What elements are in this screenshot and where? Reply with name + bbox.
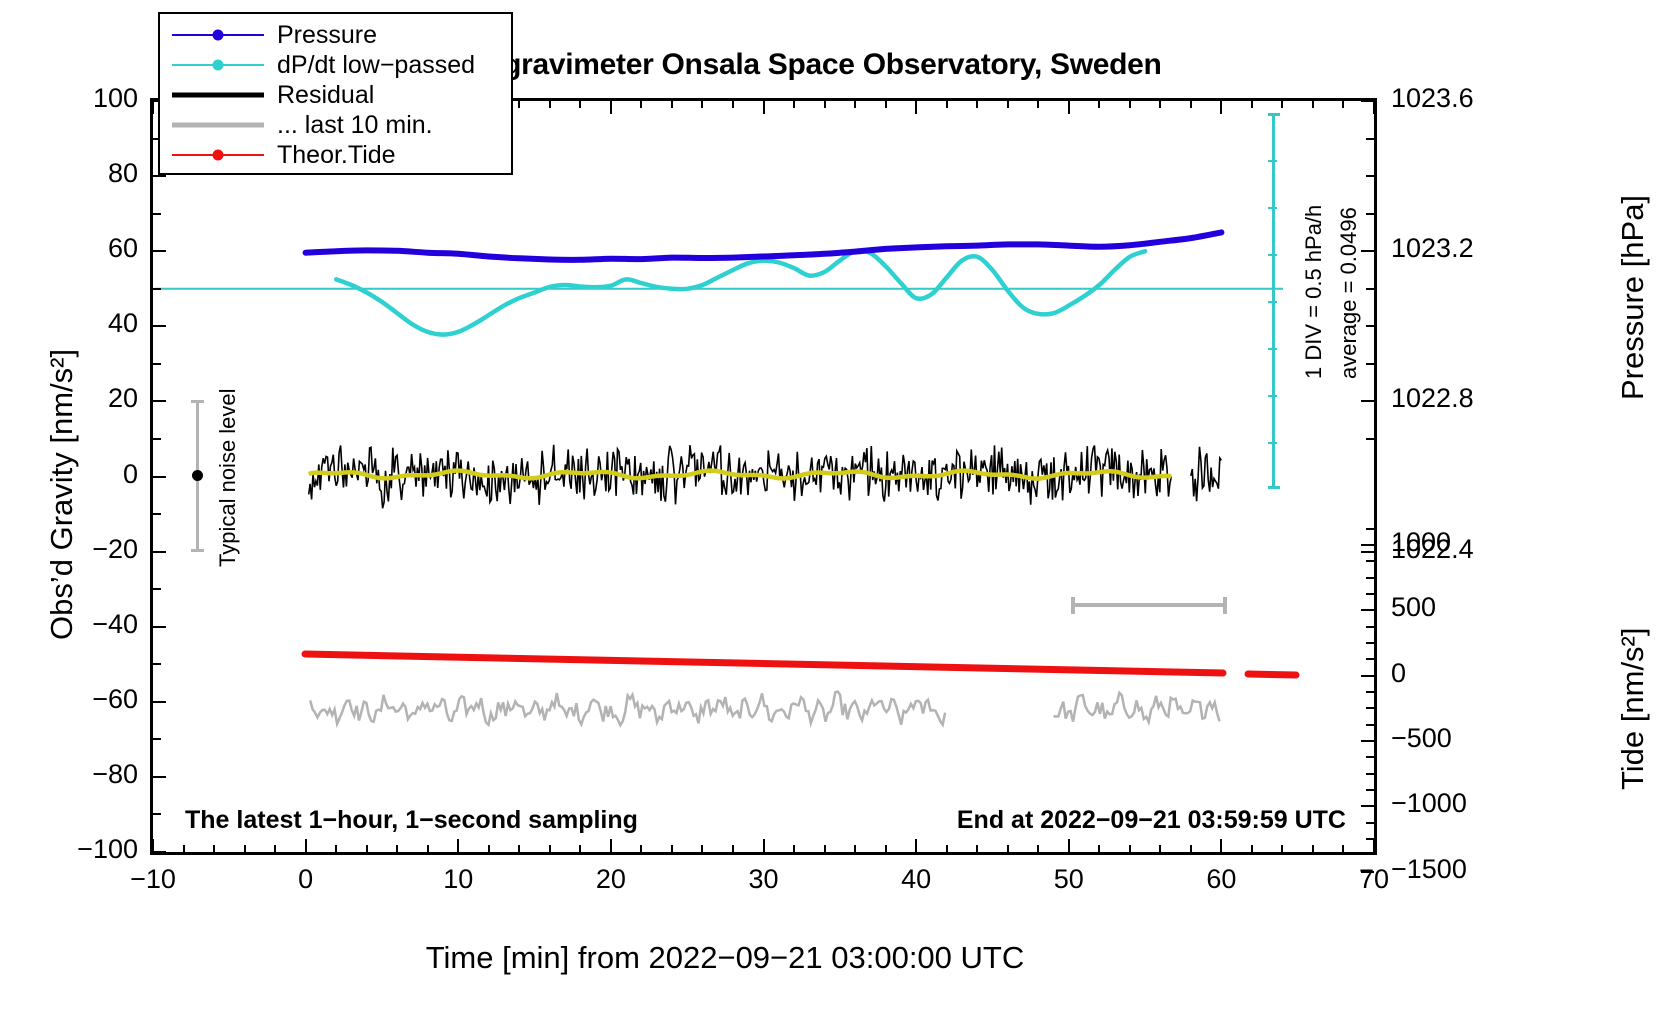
right-tide-tick-label: −1000 (1391, 788, 1561, 819)
bottom-tick-major (1220, 839, 1222, 852)
bottom-tick-minor (640, 845, 642, 852)
bottom-tick-minor (854, 845, 856, 852)
right-tide-tick-minor (1366, 691, 1374, 693)
right-tide-tick-label: −500 (1391, 723, 1561, 754)
noise-cap-top (191, 400, 204, 403)
left-tick-major (153, 851, 166, 853)
legend-item-1[interactable]: dP/dt low−passed (160, 50, 511, 80)
top-tick (701, 101, 703, 108)
bottom-tick-label: 60 (1171, 864, 1271, 895)
right-pressure-tick-label: 1022.8 (1391, 383, 1541, 414)
right-tide-tick-label: −1500 (1391, 854, 1561, 885)
right-pressure-tick-minor (1366, 288, 1374, 290)
noise-cap-bottom (191, 549, 204, 552)
legend-marker-dot (213, 60, 224, 71)
bottom-tick-major (152, 839, 154, 852)
right-tide-tick-major (1361, 740, 1374, 742)
top-tick (763, 101, 765, 114)
right-pressure-tick-label: 1023.2 (1391, 233, 1541, 264)
left-axis-title: Obs’d Gravity [nm/s²] (44, 349, 80, 640)
plot-area: Typical noise level 1 DIV = 0.5 hPa/h av… (150, 98, 1377, 855)
legend-swatch (172, 115, 264, 135)
left-tick-minor (153, 738, 161, 740)
legend-item-2[interactable]: Residual (160, 80, 511, 110)
left-tick-major (153, 776, 166, 778)
span-bar-line (1071, 603, 1227, 607)
left-tick-minor (153, 213, 161, 215)
left-tick-label: 80 (52, 158, 138, 189)
left-tick-major (153, 250, 166, 252)
series-dpdt-lowpassed (336, 251, 1145, 335)
top-tick (1159, 101, 1161, 108)
typical-noise-level-label: Typical noise level (215, 388, 241, 567)
top-tick (1007, 101, 1009, 108)
top-tick (549, 101, 551, 108)
left-tick-minor (153, 813, 161, 815)
bottom-tick-minor (549, 845, 551, 852)
top-tick (946, 101, 948, 108)
right-pressure-tick-minor (1366, 138, 1374, 140)
bottom-tick-minor (1251, 845, 1253, 852)
last-10-min-span-bar (1071, 597, 1227, 614)
bottom-tick-minor (1098, 845, 1100, 852)
dpdt-div-label: 1 DIV = 0.5 hPa/h (1301, 205, 1327, 379)
top-tick (1190, 101, 1192, 108)
right-tide-tick-minor (1366, 789, 1374, 791)
legend-line (172, 93, 264, 98)
bottom-tick-minor (1007, 845, 1009, 852)
right-pressure-tick-minor (1366, 325, 1374, 327)
bottom-tick-label: −10 (103, 864, 203, 895)
right-pressure-tick-major (1361, 100, 1374, 102)
bottom-tick-label: 10 (408, 864, 508, 895)
right-tide-tick-label: 1000 (1391, 527, 1561, 558)
right-tide-tick-minor (1366, 658, 1374, 660)
bottom-tick-minor (824, 845, 826, 852)
legend-item-4[interactable]: Theor.Tide (160, 140, 511, 170)
bottom-tick-minor (488, 845, 490, 852)
bottom-tick-minor (732, 845, 734, 852)
bottom-tick-minor (1159, 845, 1161, 852)
right-tide-tick-major (1361, 675, 1374, 677)
bottom-tick-minor (579, 845, 581, 852)
bottom-tick-minor (671, 845, 673, 852)
right-tide-tick-minor (1366, 838, 1374, 840)
bottom-tick-minor (427, 845, 429, 852)
legend-label: Theor.Tide (277, 141, 396, 170)
bottom-tick-minor (366, 845, 368, 852)
dpdt-average-label: average = 0.0496 (1336, 207, 1362, 379)
top-tick (1220, 101, 1222, 114)
right-pressure-axis-title: Pressure [hPa] (1615, 195, 1651, 400)
series-last-10-min (310, 692, 1219, 726)
top-tick (732, 101, 734, 108)
scale-tick (1268, 207, 1277, 209)
bottom-tick-minor (946, 845, 948, 852)
bottom-tick-major (915, 839, 917, 852)
right-tide-tick-minor (1366, 773, 1374, 775)
top-tick (640, 101, 642, 108)
bottom-axis-title: Time [min] from 2022−09−21 03:00:00 UTC (0, 940, 1450, 976)
left-tick-major (153, 551, 166, 553)
top-tick (885, 101, 887, 108)
right-tide-tick-label: 500 (1391, 592, 1561, 623)
bottom-tick-minor (518, 845, 520, 852)
legend-swatch (172, 25, 264, 45)
top-tick (793, 101, 795, 108)
top-tick (610, 101, 612, 114)
left-tick-minor (153, 663, 161, 665)
top-tick (671, 101, 673, 108)
dpdt-scale-bar (1268, 113, 1280, 489)
bottom-tick-major (305, 839, 307, 852)
left-tick-major (153, 701, 166, 703)
scale-tick (1268, 301, 1277, 303)
bottom-tick-label: 30 (714, 864, 814, 895)
left-tick-minor (153, 288, 161, 290)
right-pressure-tick-minor (1366, 363, 1374, 365)
right-tide-tick-label: 0 (1391, 658, 1561, 689)
top-tick (915, 101, 917, 114)
left-tick-label: 40 (52, 308, 138, 339)
right-tide-tick-major (1361, 609, 1374, 611)
top-tick (1312, 101, 1314, 108)
series-theor-tide (305, 654, 1296, 675)
bottom-tick-minor (1281, 845, 1283, 852)
right-tide-tick-minor (1366, 822, 1374, 824)
top-tick (1037, 101, 1039, 108)
top-tick (1068, 101, 1070, 114)
left-tick-minor (153, 438, 161, 440)
bottom-tick-minor (1129, 845, 1131, 852)
right-tide-tick-major (1361, 544, 1374, 546)
typical-noise-level-marker (191, 400, 204, 552)
bottom-tick-minor (274, 845, 276, 852)
bottom-tick-minor (1037, 845, 1039, 852)
scale-tick (1268, 395, 1277, 397)
left-tick-minor (153, 363, 161, 365)
bottom-tick-major (763, 839, 765, 852)
legend-label: Residual (277, 81, 374, 110)
legend-item-3[interactable]: ... last 10 min. (160, 110, 511, 140)
footer-right-note: End at 2022−09−21 03:59:59 UTC (957, 806, 1346, 835)
top-tick (976, 101, 978, 108)
left-tick-major (153, 175, 166, 177)
right-pressure-tick-major (1361, 400, 1374, 402)
right-pressure-tick-minor (1366, 213, 1374, 215)
bottom-tick-minor (701, 845, 703, 852)
legend-swatch (172, 85, 264, 105)
left-tick-label: −60 (52, 684, 138, 715)
right-pressure-tick-major (1361, 551, 1374, 553)
legend-label: ... last 10 min. (277, 111, 433, 140)
scale-tick (1268, 254, 1277, 256)
legend-item-0[interactable]: Pressure (160, 20, 511, 50)
legend-swatch (172, 145, 264, 165)
noise-center-dot (192, 470, 203, 481)
left-tick-label: 100 (52, 83, 138, 114)
top-tick (824, 101, 826, 108)
scale-tick (1268, 348, 1277, 350)
right-tide-tick-minor (1366, 707, 1374, 709)
right-tide-tick-minor (1366, 626, 1374, 628)
left-tick-major (153, 476, 166, 478)
right-tide-tick-minor (1366, 756, 1374, 758)
top-tick (1281, 101, 1283, 108)
top-tick (152, 101, 154, 114)
legend-marker-dot (213, 150, 224, 161)
right-tide-tick-minor (1366, 560, 1374, 562)
legend-marker-dot (213, 30, 224, 41)
bottom-tick-major (1068, 839, 1070, 852)
right-tide-tick-minor (1366, 528, 1374, 530)
top-tick (1373, 101, 1375, 114)
bottom-tick-label: 20 (561, 864, 661, 895)
left-tick-major (153, 626, 166, 628)
bottom-tick-major (1373, 839, 1375, 852)
right-pressure-tick-label: 1023.6 (1391, 83, 1541, 114)
left-tick-minor (153, 513, 161, 515)
top-tick (854, 101, 856, 108)
footer-left-note: The latest 1−hour, 1−second sampling (185, 806, 638, 835)
scale-tick (1268, 160, 1277, 162)
right-pressure-tick-major (1361, 250, 1374, 252)
bottom-tick-label: 0 (256, 864, 356, 895)
left-tick-major (153, 325, 166, 327)
right-tide-axis-title: Tide [nm/s²] (1615, 628, 1651, 791)
scale-bar-top-cap (1268, 113, 1280, 116)
span-bar-right-cap (1223, 597, 1227, 614)
bottom-tick-minor (335, 845, 337, 852)
left-tick-label: 60 (52, 233, 138, 264)
right-tide-tick-minor (1366, 577, 1374, 579)
bottom-tick-minor (793, 845, 795, 852)
top-tick (518, 101, 520, 108)
plot-canvas (153, 101, 1374, 852)
right-tide-tick-minor (1366, 724, 1374, 726)
bottom-tick-minor (885, 845, 887, 852)
series-pressure (306, 232, 1222, 259)
left-tick-minor (153, 588, 161, 590)
top-tick (1129, 101, 1131, 108)
bottom-tick-minor (1190, 845, 1192, 852)
bottom-tick-minor (183, 845, 185, 852)
left-tick-label: −80 (52, 759, 138, 790)
left-tick-major (153, 400, 166, 402)
gravimeter-plot-page: SCG_054 gravimeter Onsala Space Observat… (0, 0, 1660, 1020)
legend-label: Pressure (277, 21, 377, 50)
legend-line (172, 123, 264, 128)
bottom-tick-major (610, 839, 612, 852)
bottom-tick-minor (396, 845, 398, 852)
bottom-tick-label: 40 (866, 864, 966, 895)
bottom-tick-minor (213, 845, 215, 852)
bottom-tick-minor (1312, 845, 1314, 852)
legend: PressuredP/dt low−passedResidual... last… (158, 12, 513, 175)
top-tick (1342, 101, 1344, 108)
right-pressure-tick-minor (1366, 438, 1374, 440)
top-tick (1098, 101, 1100, 108)
bottom-tick-minor (1342, 845, 1344, 852)
scale-tick (1268, 442, 1277, 444)
right-tide-tick-major (1361, 805, 1374, 807)
bottom-tick-minor (976, 845, 978, 852)
right-tide-tick-major (1361, 871, 1374, 873)
top-tick (1251, 101, 1253, 108)
bottom-tick-label: 50 (1019, 864, 1119, 895)
scale-bar-bottom-cap (1268, 486, 1280, 489)
legend-label: dP/dt low−passed (277, 51, 475, 80)
legend-swatch (172, 55, 264, 75)
right-tide-tick-minor (1366, 593, 1374, 595)
left-tick-label: −100 (52, 834, 138, 865)
bottom-tick-minor (244, 845, 246, 852)
bottom-tick-major (457, 839, 459, 852)
span-bar-left-cap (1071, 597, 1075, 614)
right-tide-tick-minor (1366, 642, 1374, 644)
top-tick (579, 101, 581, 108)
right-pressure-tick-minor (1366, 175, 1374, 177)
